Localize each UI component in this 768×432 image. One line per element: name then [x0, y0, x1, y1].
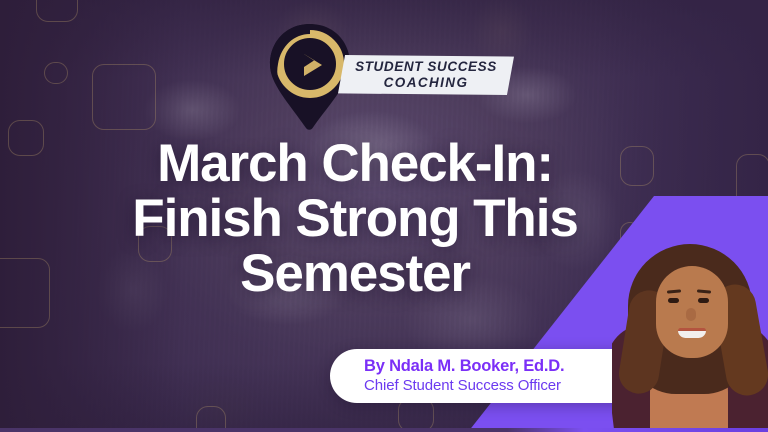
decorative-square — [0, 258, 50, 328]
promo-graphic: STUDENT SUCCESS COACHING March Check-In:… — [0, 0, 768, 432]
byline-pill: By Ndala M. Booker, Ed.D. Chief Student … — [330, 349, 652, 403]
decorative-square — [8, 120, 44, 156]
banner-line-2: COACHING — [384, 75, 469, 91]
headline-line-2: Finish Strong This — [60, 191, 650, 246]
headline-line-1: March Check-In: — [60, 136, 650, 191]
headline-line-3: Semester — [60, 246, 650, 301]
decorative-square — [92, 64, 156, 130]
author-headshot — [612, 232, 768, 432]
bottom-accent-strip — [0, 428, 768, 432]
decorative-square — [398, 398, 434, 432]
byline-role: Chief Student Success Officer — [364, 377, 652, 395]
banner-line-1: STUDENT SUCCESS — [355, 59, 497, 75]
byline-author: By Ndala M. Booker, Ed.D. — [364, 357, 652, 376]
decorative-square — [36, 0, 78, 22]
decorative-square — [44, 62, 68, 84]
brand-banner: STUDENT SUCCESS COACHING — [338, 55, 514, 95]
headline: March Check-In: Finish Strong This Semes… — [60, 136, 650, 301]
